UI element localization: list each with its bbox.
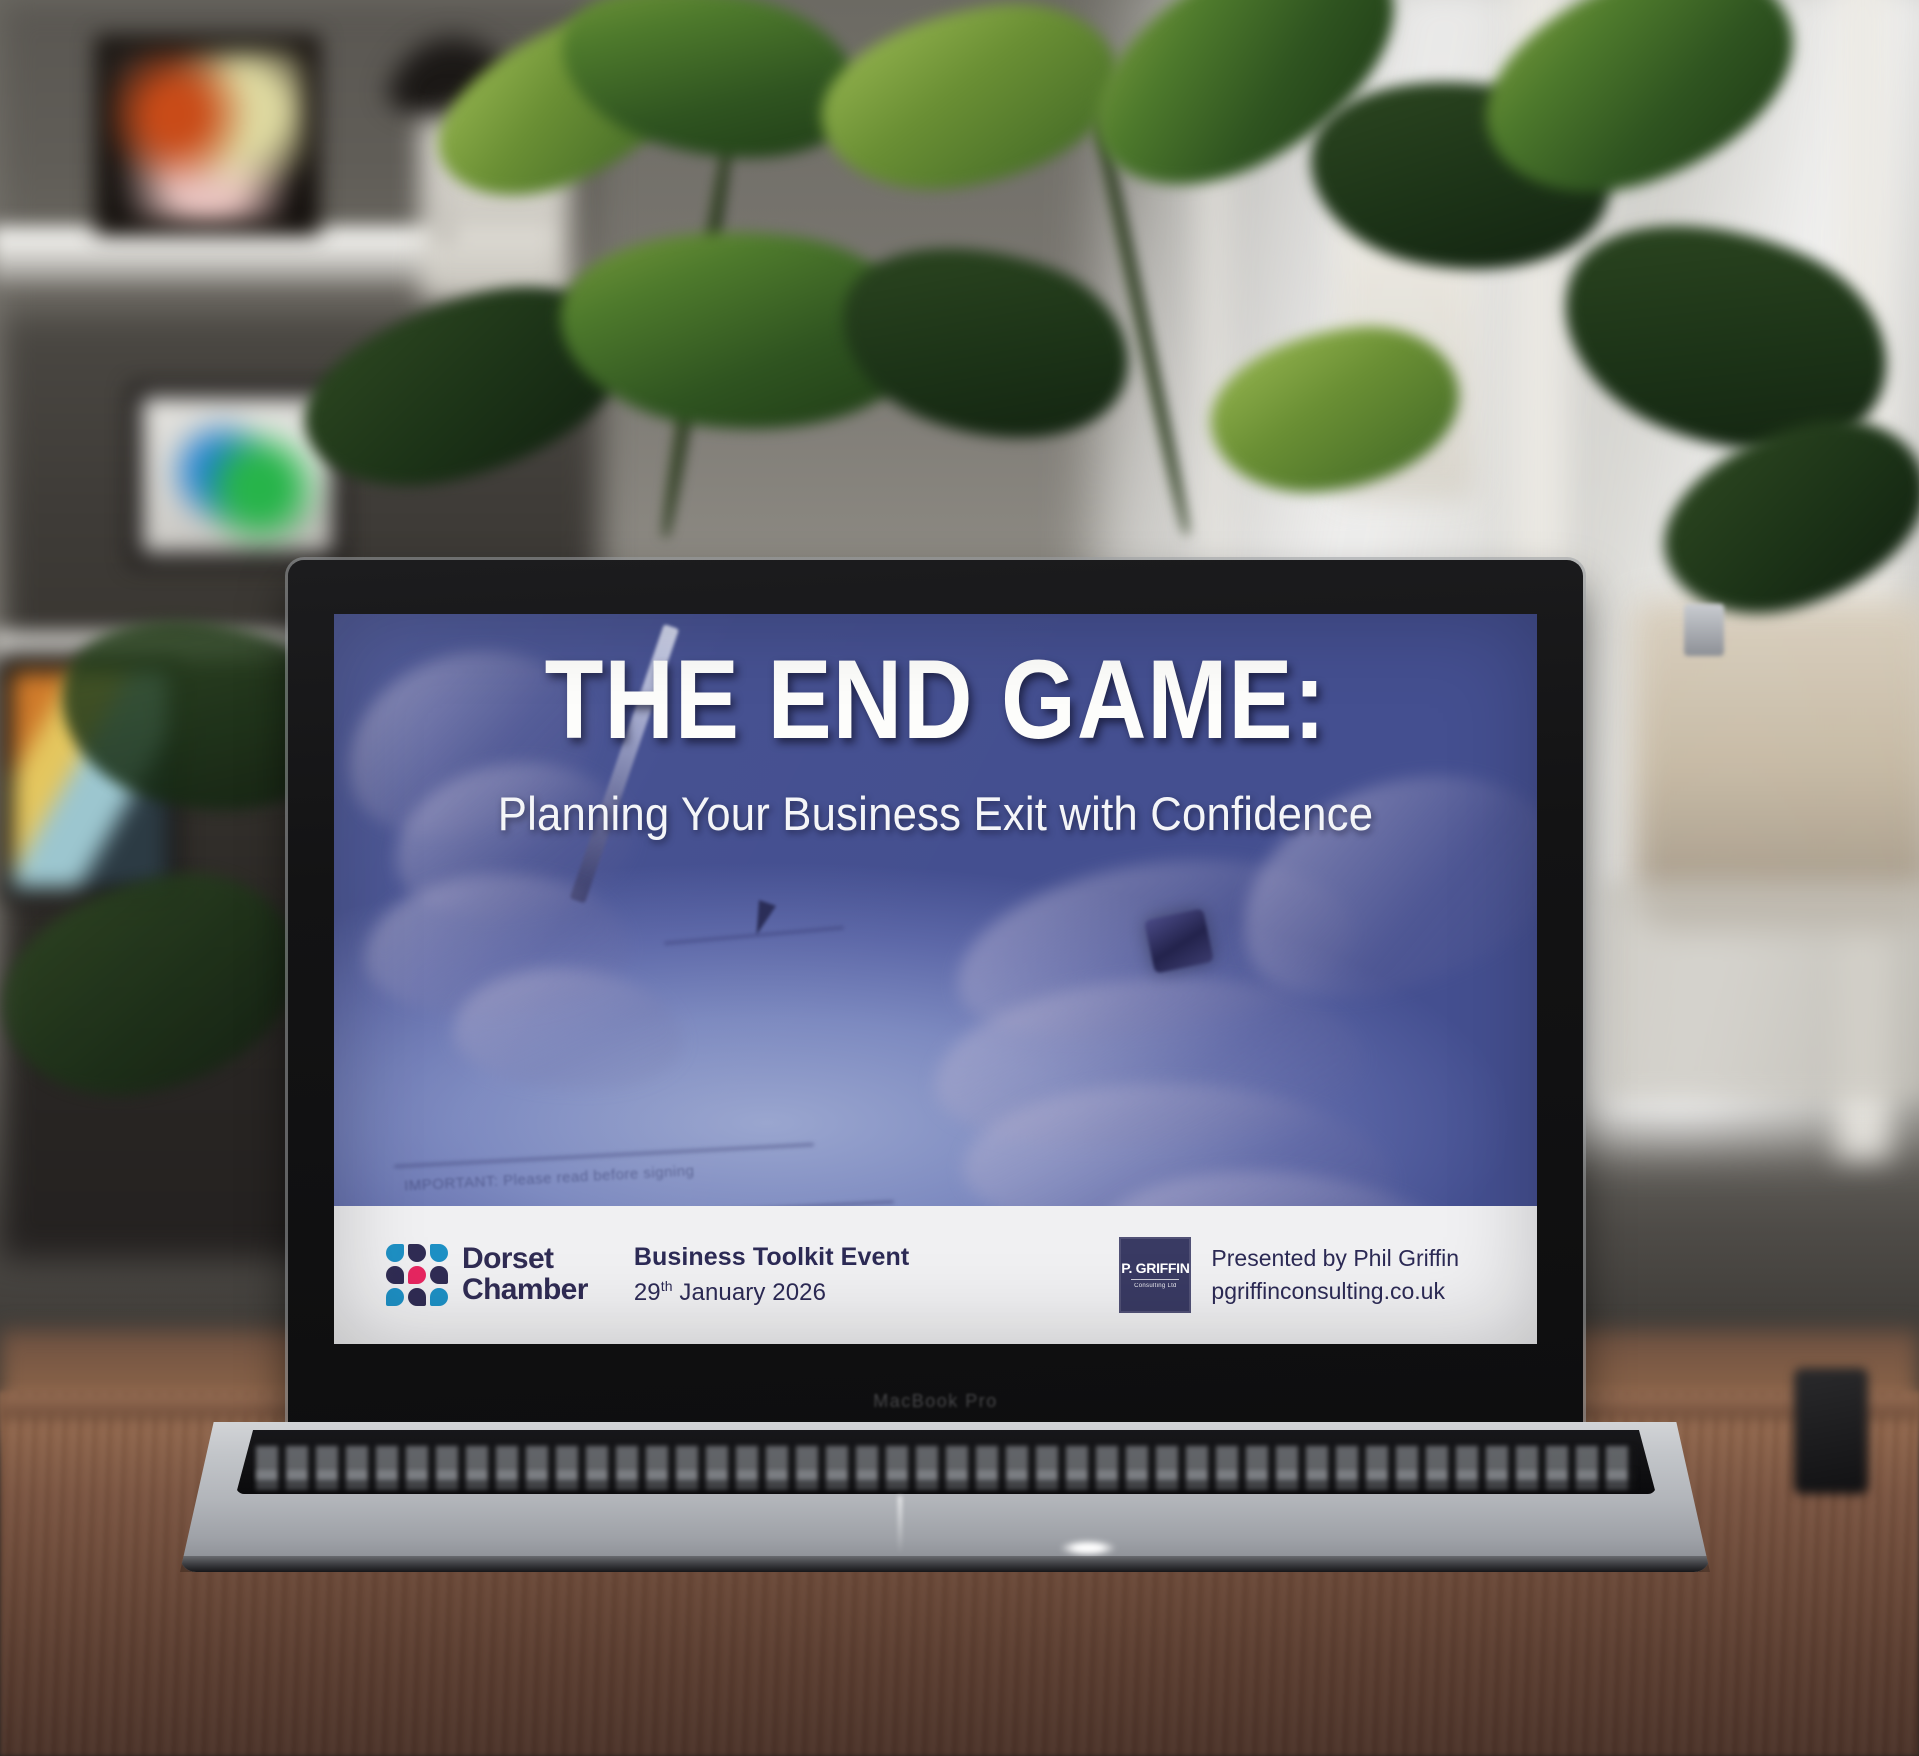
logo-dot [408, 1244, 426, 1262]
logo-dot [430, 1288, 448, 1306]
footer-right-group: P. GRIFFIN Consulting Ltd Presented by P… [1119, 1237, 1459, 1313]
footer-left-group: Dorset Chamber Business Toolkit Event 29… [386, 1243, 909, 1307]
logo-dot [430, 1266, 448, 1284]
event-date-day: 29 [634, 1279, 661, 1306]
presentation-slide[interactable]: IMPORTANT: Please read before signing TH… [334, 614, 1537, 1344]
p-griffin-name: P. GRIFFIN [1121, 1261, 1189, 1275]
event-title: Business Toolkit Event [634, 1243, 909, 1272]
base-highlight [1060, 1540, 1116, 1556]
slide-footer: Dorset Chamber Business Toolkit Event 29… [334, 1206, 1537, 1344]
slide-hero: IMPORTANT: Please read before signing TH… [334, 614, 1537, 1206]
trackpad-edge[interactable] [898, 1496, 902, 1554]
photo-scene: IMPORTANT: Please read before signing TH… [0, 0, 1919, 1756]
laptop-bezel: IMPORTANT: Please read before signing TH… [288, 560, 1583, 1428]
slide-copy: THE END GAME: Planning Your Business Exi… [334, 614, 1537, 841]
dorset-chamber-wordmark: Dorset Chamber [462, 1244, 588, 1305]
logo-word-line-2: Chamber [462, 1275, 588, 1306]
keyboard[interactable] [236, 1430, 1656, 1494]
dorset-chamber-dot-grid-icon [386, 1244, 448, 1306]
slide-subtitle: Planning Your Business Exit with Confide… [376, 786, 1495, 841]
presenter-details: Presented by Phil Griffin pgriffinconsul… [1211, 1242, 1459, 1309]
logo-dot [386, 1244, 404, 1262]
logo-dot [430, 1244, 448, 1262]
side-port [1684, 604, 1724, 656]
presenter-website: pgriffinconsulting.co.uk [1211, 1275, 1459, 1308]
logo-dot [386, 1288, 404, 1306]
p-griffin-rule [1131, 1279, 1179, 1280]
event-date-rest: January 2026 [673, 1279, 826, 1306]
framed-picture [95, 35, 320, 235]
logo-dot [408, 1266, 426, 1284]
laptop-lid: IMPORTANT: Please read before signing TH… [288, 560, 1583, 1428]
laptop: IMPORTANT: Please read before signing TH… [180, 560, 1710, 1660]
slide-title: THE END GAME: [418, 644, 1453, 756]
logo-word-line-1: Dorset [462, 1244, 588, 1275]
logo-dot [386, 1266, 404, 1284]
p-griffin-subtitle: Consulting Ltd [1134, 1283, 1177, 1289]
dorset-chamber-logo: Dorset Chamber [386, 1244, 588, 1306]
logo-dot [408, 1288, 426, 1306]
macbook-brand-label: MacBook Pro [288, 1391, 1583, 1412]
event-date: 29th January 2026 [634, 1278, 909, 1307]
laptop-base [180, 1422, 1710, 1572]
p-griffin-logo: P. GRIFFIN Consulting Ltd [1119, 1237, 1191, 1313]
event-date-ordinal: th [661, 1278, 673, 1294]
laptop-screen[interactable]: IMPORTANT: Please read before signing TH… [334, 614, 1537, 1344]
event-details: Business Toolkit Event 29th January 2026 [634, 1243, 909, 1307]
desk-object [1794, 1368, 1868, 1494]
presenter-name: Presented by Phil Griffin [1211, 1242, 1459, 1275]
key-row[interactable] [256, 1470, 1636, 1490]
